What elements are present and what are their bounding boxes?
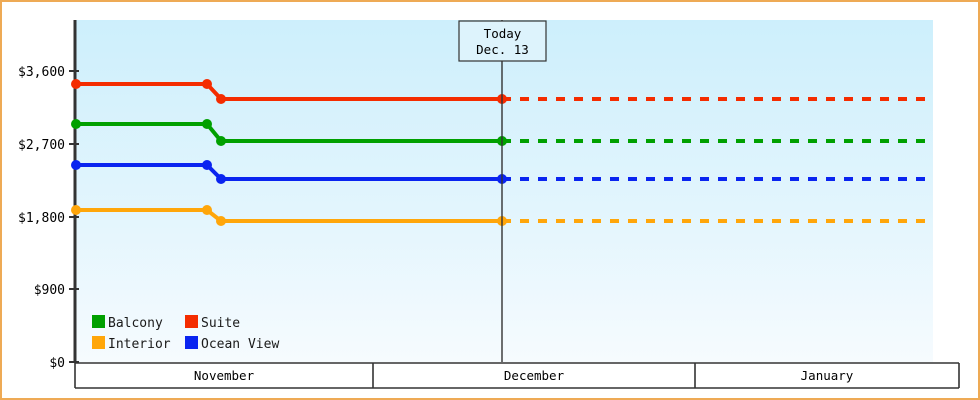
y-tick-label-0: $0 bbox=[49, 356, 65, 371]
data-point bbox=[71, 205, 81, 215]
chart-panel: $3,600 $2,700 $1,800 $900 $0 bbox=[0, 0, 980, 400]
data-point bbox=[216, 216, 226, 226]
y-tick-label-1800: $1,800 bbox=[18, 211, 65, 226]
data-point bbox=[202, 119, 212, 129]
legend-swatch-ocean-view bbox=[185, 336, 198, 349]
legend-swatch-balcony bbox=[92, 315, 105, 328]
data-point bbox=[216, 94, 226, 104]
data-point bbox=[216, 174, 226, 184]
today-callout-line2: Dec. 13 bbox=[476, 42, 529, 57]
legend-swatch-suite bbox=[185, 315, 198, 328]
legend-label-ocean-view: Ocean View bbox=[201, 337, 279, 352]
legend-swatch-interior bbox=[92, 336, 105, 349]
data-point bbox=[202, 205, 212, 215]
y-tick-label-2700: $2,700 bbox=[18, 138, 65, 153]
data-point bbox=[216, 136, 226, 146]
today-callout-line1: Today bbox=[484, 26, 522, 41]
legend-label-balcony: Balcony bbox=[108, 316, 163, 331]
data-point bbox=[202, 79, 212, 89]
legend-label-interior: Interior bbox=[108, 337, 171, 352]
chart-stage: $3,600 $2,700 $1,800 $900 $0 bbox=[2, 2, 980, 400]
data-point bbox=[71, 79, 81, 89]
legend-label-suite: Suite bbox=[201, 316, 240, 331]
x-axis-label-january: January bbox=[801, 368, 854, 383]
price-history-chart: $3,600 $2,700 $1,800 $900 $0 bbox=[2, 2, 980, 400]
data-point bbox=[202, 160, 212, 170]
data-point bbox=[71, 160, 81, 170]
x-axis-label-november: November bbox=[194, 368, 255, 383]
y-tick-label-3600: $3,600 bbox=[18, 65, 65, 80]
x-axis-label-december: December bbox=[504, 368, 565, 383]
data-point bbox=[71, 119, 81, 129]
y-tick-label-900: $900 bbox=[34, 283, 65, 298]
x-axis-month-band: November December January bbox=[75, 363, 959, 388]
plot-background bbox=[75, 20, 933, 362]
